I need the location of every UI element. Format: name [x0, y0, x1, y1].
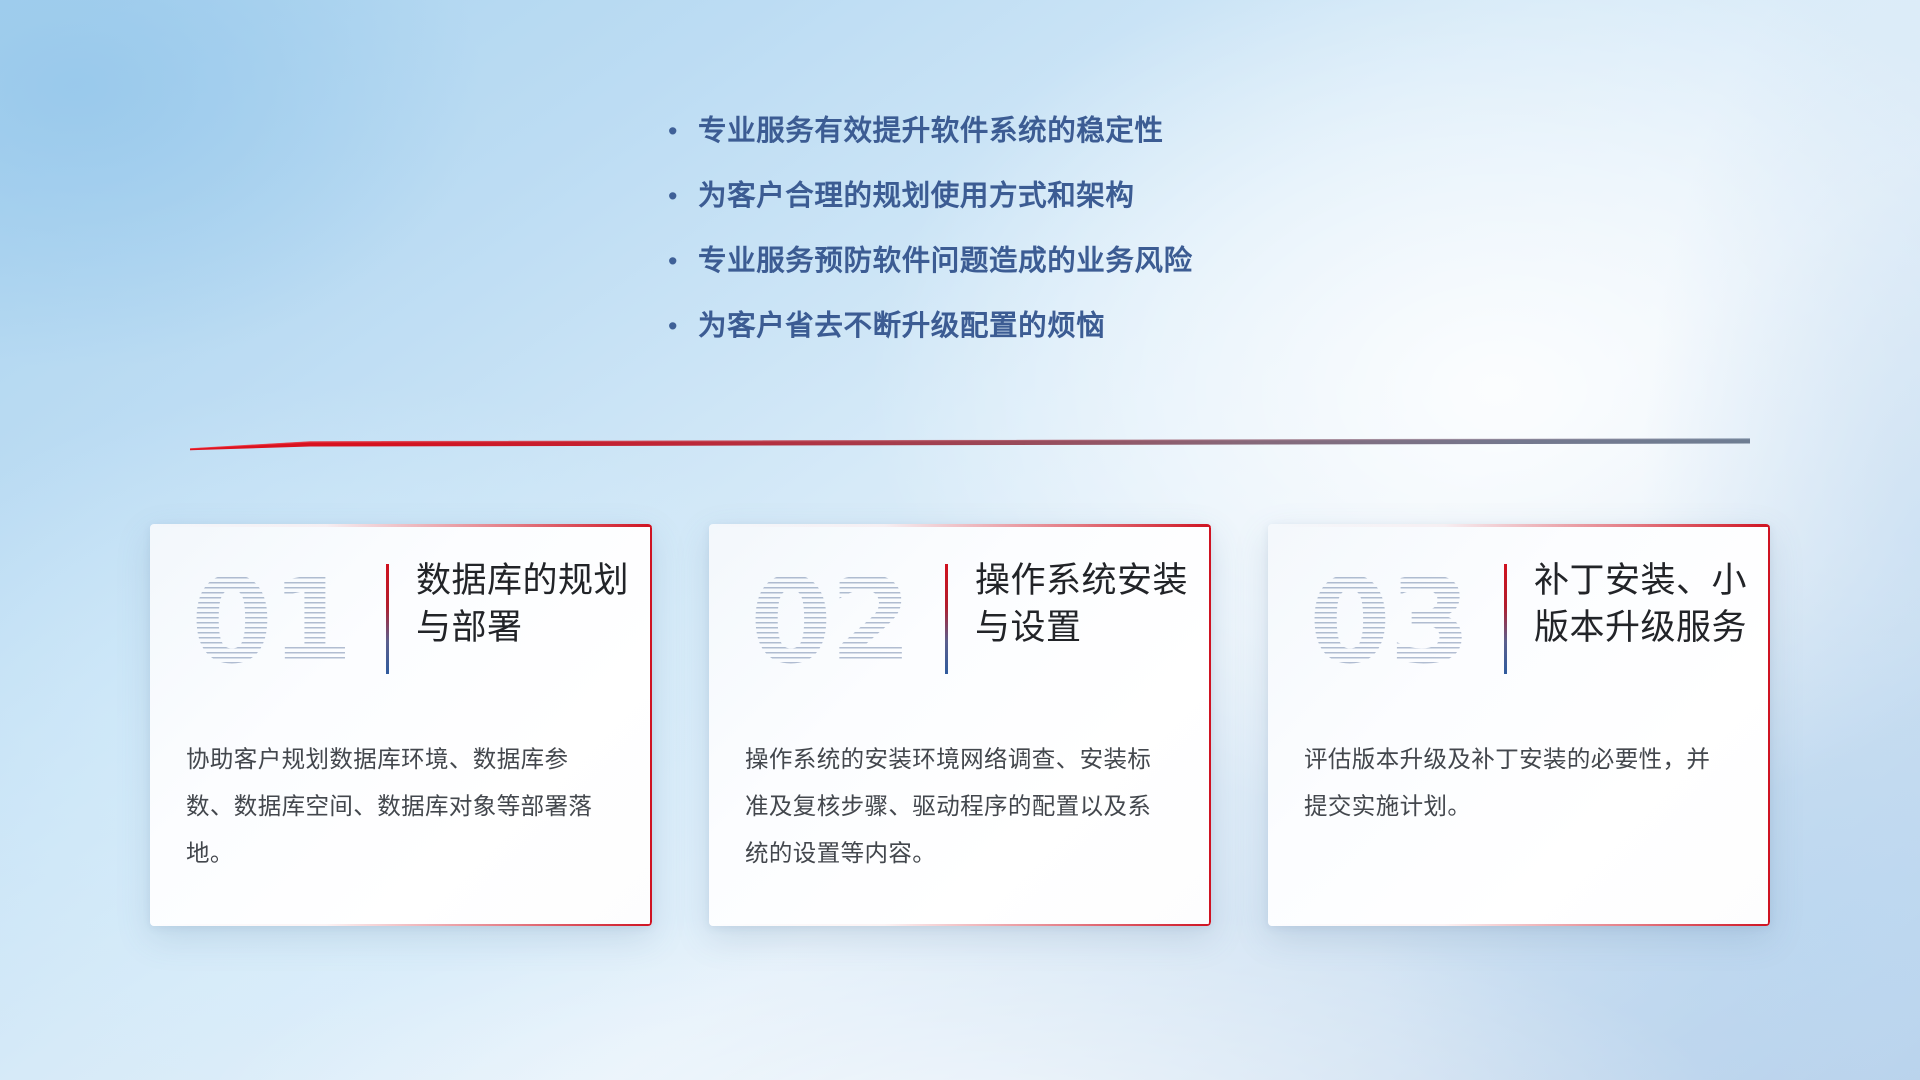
service-card-row: 01 数据库的规划与部署 协助客户规划数据库环境、数据库参数、数据库空间、数据库… — [0, 524, 1920, 944]
card-bottom-accent-line — [150, 924, 652, 927]
service-card[interactable]: 01 数据库的规划与部署 协助客户规划数据库环境、数据库参数、数据库空间、数据库… — [150, 524, 652, 926]
title-accent-bar — [386, 564, 389, 674]
service-card[interactable]: 02 操作系统安装与设置 操作系统的安装环境网络调查、安装标准及复核步骤、驱动程… — [709, 524, 1211, 926]
bullet-dot-icon: • — [668, 183, 698, 210]
card-bottom-accent-line — [1268, 924, 1770, 927]
title-accent-bar — [945, 564, 948, 674]
card-number-text: 02 — [750, 562, 910, 680]
card-header: 03 补丁安装、小版本升级服务 — [1268, 524, 1770, 716]
card-number-text: 01 — [191, 562, 351, 680]
card-body-text: 评估版本升级及补丁安装的必要性，并提交实施计划。 — [1304, 736, 1734, 830]
bullet-dot-icon: • — [668, 313, 698, 340]
list-item: • 为客户省去不断升级配置的烦恼 — [668, 303, 1193, 368]
benefit-bullet-list: • 专业服务有效提升软件系统的稳定性 • 为客户合理的规划使用方式和架构 • 专… — [668, 108, 1193, 368]
card-header: 02 操作系统安装与设置 — [709, 524, 1211, 716]
bullet-text: 为客户省去不断升级配置的烦恼 — [698, 303, 1105, 344]
card-bottom-accent-line — [709, 924, 1211, 927]
slide-canvas: • 专业服务有效提升软件系统的稳定性 • 为客户合理的规划使用方式和架构 • 专… — [0, 0, 1920, 1080]
list-item: • 专业服务预防软件问题造成的业务风险 — [668, 238, 1193, 303]
bullet-text: 专业服务有效提升软件系统的稳定性 — [698, 108, 1164, 149]
card-title: 数据库的规划与部署 — [416, 558, 638, 651]
card-header: 01 数据库的规划与部署 — [150, 524, 652, 716]
list-item: • 为客户合理的规划使用方式和架构 — [668, 173, 1193, 238]
card-number-watermark: 02 — [735, 546, 925, 696]
list-item: • 专业服务有效提升软件系统的稳定性 — [668, 108, 1193, 173]
card-title: 操作系统安装与设置 — [975, 558, 1197, 651]
card-number-watermark: 03 — [1294, 546, 1484, 696]
card-body-text: 协助客户规划数据库环境、数据库参数、数据库空间、数据库对象等部署落地。 — [186, 736, 616, 877]
card-body-text: 操作系统的安装环境网络调查、安装标准及复核步骤、驱动程序的配置以及系统的设置等内… — [745, 736, 1175, 877]
bullet-text: 专业服务预防软件问题造成的业务风险 — [698, 238, 1193, 279]
card-title-block: 操作系统安装与设置 — [945, 558, 1197, 674]
card-number-text: 03 — [1309, 562, 1469, 680]
tapered-divider — [190, 432, 1750, 454]
card-title-block: 补丁安装、小版本升级服务 — [1504, 558, 1756, 674]
bullet-dot-icon: • — [668, 118, 698, 145]
bullet-text: 为客户合理的规划使用方式和架构 — [698, 173, 1135, 214]
tapered-divider-shape — [190, 432, 1750, 454]
service-card[interactable]: 03 补丁安装、小版本升级服务 评估版本升级及补丁安装的必要性，并提交实施计划。 — [1268, 524, 1770, 926]
card-title: 补丁安装、小版本升级服务 — [1534, 558, 1756, 651]
title-accent-bar — [1504, 564, 1507, 674]
card-number-watermark: 01 — [176, 546, 366, 696]
bullet-dot-icon: • — [668, 248, 698, 275]
card-title-block: 数据库的规划与部署 — [386, 558, 638, 674]
